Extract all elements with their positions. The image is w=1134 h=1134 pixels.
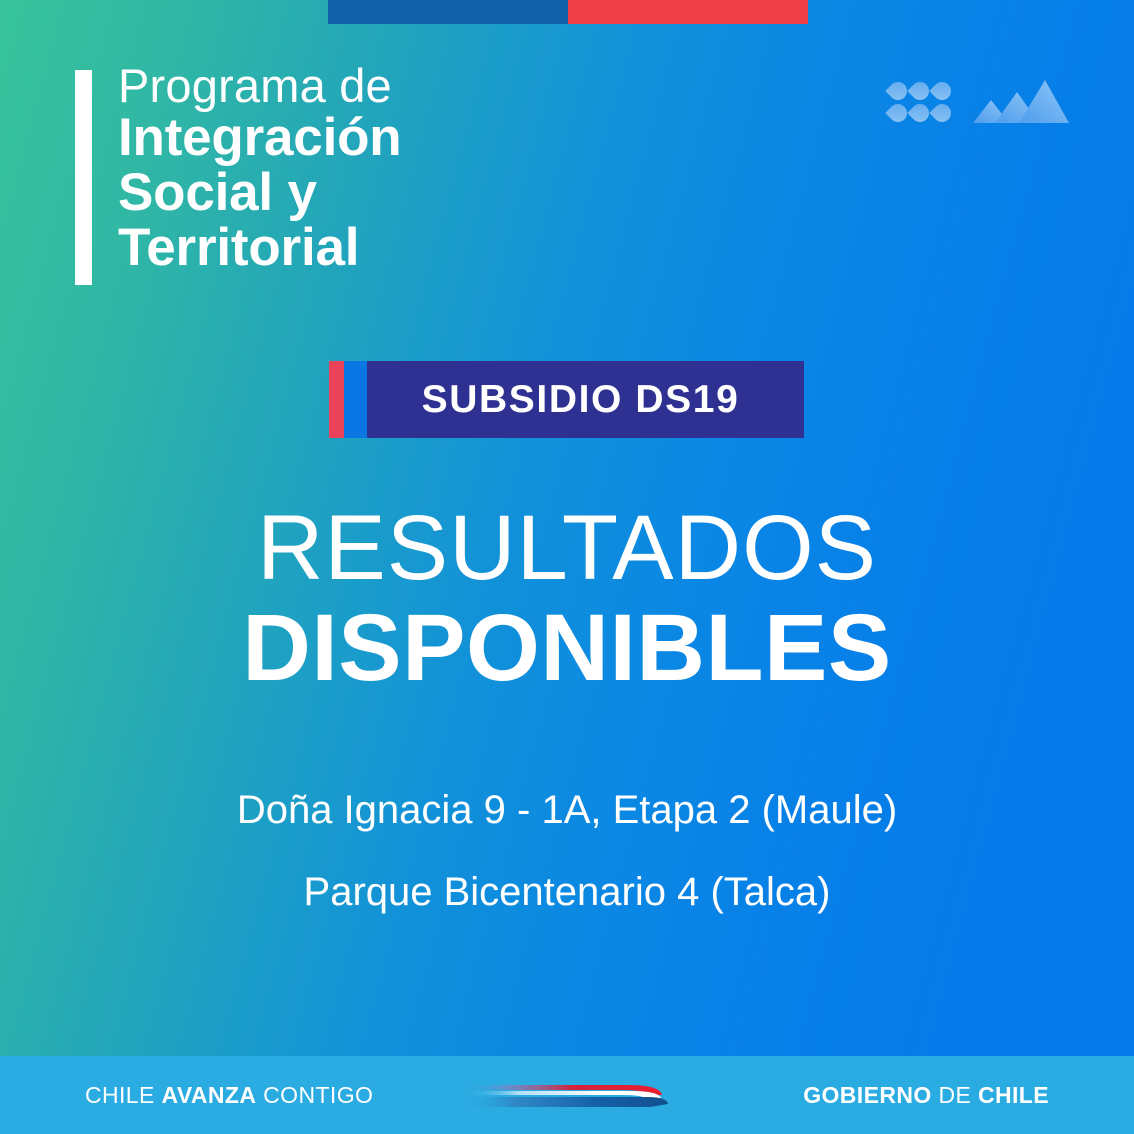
badge-body: SUBSIDIO DS19 [367, 361, 804, 438]
footer-bar: CHILE AVANZA CONTIGO [0, 1056, 1134, 1134]
poster-canvas: Programa de Integración Social y Territo… [0, 0, 1134, 1134]
project-list: Doña Ignacia 9 - 1A, Etapa 2 (Maule) Par… [0, 790, 1134, 912]
chile-flag-swoosh-icon [462, 1078, 674, 1112]
page-title: RESULTADOS DISPONIBLES [0, 500, 1134, 698]
logo-vertical-bar [75, 70, 92, 285]
footer-gov-word-3: CHILE [978, 1082, 1049, 1108]
water-drop-icon [929, 100, 954, 125]
project-line-1: Doña Ignacia 9 - 1A, Etapa 2 (Maule) [0, 790, 1134, 830]
footer-government-label: GOBIERNO DE CHILE [803, 1082, 1049, 1109]
badge-stripe-blue [344, 361, 367, 438]
water-drops-icon [889, 82, 951, 122]
footer-gov-word-1: GOBIERNO [803, 1082, 931, 1108]
program-name-line-2: Integración [118, 110, 401, 165]
footer-slogan-word-1: CHILE [85, 1082, 155, 1108]
footer-slogan-word-2: AVANZA [162, 1082, 257, 1108]
headline-line-1: RESULTADOS [0, 500, 1134, 598]
top-bar-blue-segment [328, 0, 568, 24]
decorative-icons [889, 80, 1069, 124]
footer-gov-word-2: DE [938, 1082, 971, 1108]
program-logo-text: Programa de Integración Social y Territo… [118, 62, 401, 275]
headline-line-2: DISPONIBLES [0, 598, 1134, 699]
project-line-2: Parque Bicentenario 4 (Talca) [0, 872, 1134, 912]
program-name-line-3: Social y [118, 165, 401, 220]
mountains-icon [973, 80, 1069, 124]
status-badge: SUBSIDIO DS19 [329, 361, 804, 438]
footer-slogan-word-3: CONTIGO [263, 1082, 373, 1108]
program-name-line-4: Territorial [118, 220, 401, 275]
top-flag-bar [328, 0, 808, 24]
program-name-line-1: Programa de [118, 62, 401, 110]
water-drop-icon [929, 78, 954, 103]
badge-stripe-red [329, 361, 344, 438]
top-bar-red-segment [568, 0, 808, 24]
badge-label: SUBSIDIO DS19 [422, 378, 750, 422]
program-logo: Programa de Integración Social y Territo… [75, 62, 401, 285]
footer-slogan: CHILE AVANZA CONTIGO [85, 1082, 373, 1109]
